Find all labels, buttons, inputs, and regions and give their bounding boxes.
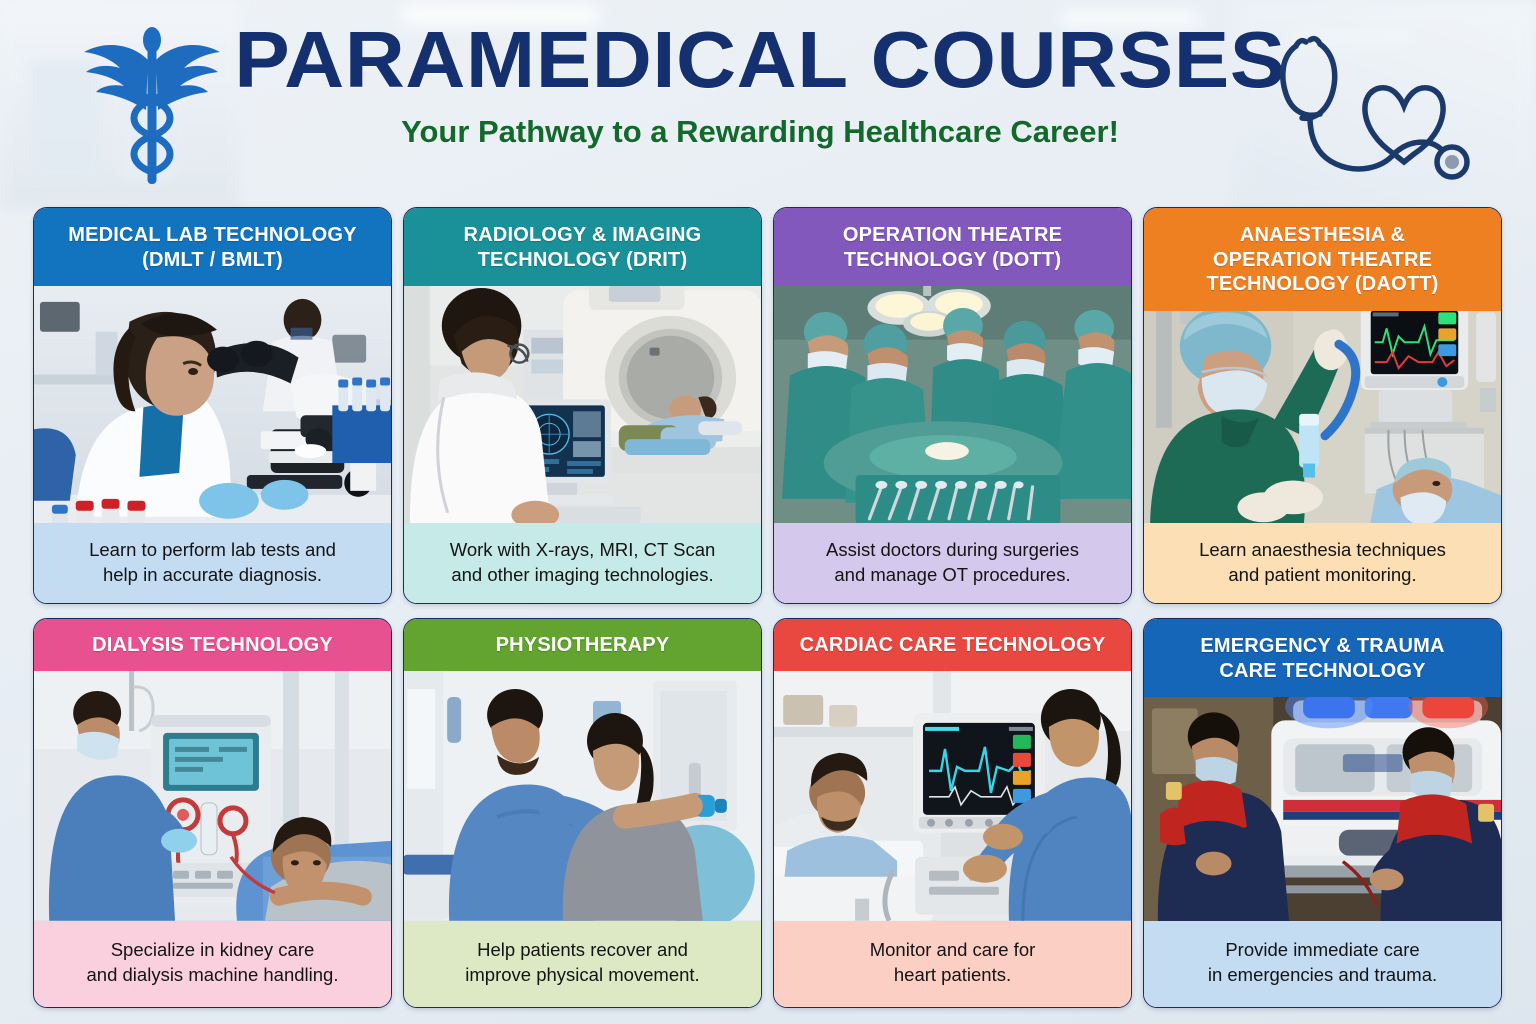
course-card-medical-lab-technology[interactable]: MEDICAL LAB TECHNOLOGY (DMLT / BMLT) <box>33 207 392 604</box>
card-header-dialysis-technology: DIALYSIS TECHNOLOGY <box>34 619 391 671</box>
page-title: PARAMEDICAL COURSES <box>230 20 1291 100</box>
caption-line1: Work with X-rays, MRI, CT Scan <box>450 539 716 560</box>
caption-line1: Provide immediate care <box>1225 939 1419 960</box>
card-image-radiology-imaging-technology <box>404 286 761 523</box>
card-title-line1: ANAESTHESIA & <box>1240 224 1405 246</box>
card-title-line2: OPERATION THEATRE <box>1213 249 1432 271</box>
caption-line2: in emergencies and trauma. <box>1208 964 1437 985</box>
poster-header: PARAMEDICAL COURSES Your Pathway to a Re… <box>0 0 1536 200</box>
card-image-physiotherapy <box>404 671 761 921</box>
course-card-grid: MEDICAL LAB TECHNOLOGY (DMLT / BMLT) <box>33 207 1503 1007</box>
card-image-operation-theatre-technology <box>774 286 1131 523</box>
caption-line2: and dialysis machine handling. <box>87 964 339 985</box>
caption-line1: Learn to perform lab tests and <box>89 539 336 560</box>
caption-line2: and other imaging technologies. <box>451 564 713 585</box>
card-title-line1: MEDICAL LAB TECHNOLOGY <box>68 224 356 246</box>
card-header-radiology-imaging-technology: RADIOLOGY & IMAGING TECHNOLOGY (DRIT) <box>404 208 761 286</box>
card-caption-operation-theatre-technology: Assist doctors during surgeries and mana… <box>774 523 1131 603</box>
course-card-physiotherapy[interactable]: PHYSIOTHERAPY <box>403 618 762 1008</box>
page-subtitle: Your Pathway to a Rewarding Healthcare C… <box>250 114 1270 150</box>
card-header-anaesthesia-operation-theatre-technology: ANAESTHESIA & OPERATION THEATRE TECHNOLO… <box>1144 208 1501 311</box>
course-card-anaesthesia-operation-theatre-technology[interactable]: ANAESTHESIA & OPERATION THEATRE TECHNOLO… <box>1143 207 1502 604</box>
card-caption-radiology-imaging-technology: Work with X-rays, MRI, CT Scan and other… <box>404 523 761 603</box>
stethoscope-heart-icon <box>1262 22 1502 192</box>
caption-line1: Learn anaesthesia techniques <box>1199 539 1446 560</box>
card-title-line1: RADIOLOGY & IMAGING <box>464 224 702 246</box>
caption-line2: improve physical movement. <box>465 964 699 985</box>
card-title-line2: (DMLT / BMLT) <box>142 249 283 271</box>
card-image-emergency-trauma-care-technology <box>1144 697 1501 921</box>
course-card-radiology-imaging-technology[interactable]: RADIOLOGY & IMAGING TECHNOLOGY (DRIT) <box>403 207 762 604</box>
card-header-physiotherapy: PHYSIOTHERAPY <box>404 619 761 671</box>
course-card-emergency-trauma-care-technology[interactable]: EMERGENCY & TRAUMA CARE TECHNOLOGY <box>1143 618 1502 1008</box>
caption-line2: heart patients. <box>894 964 1011 985</box>
card-title-line2: CARE TECHNOLOGY <box>1219 660 1425 682</box>
card-caption-emergency-trauma-care-technology: Provide immediate care in emergencies an… <box>1144 921 1501 1007</box>
caption-line1: Help patients recover and <box>477 939 688 960</box>
card-image-anaesthesia-operation-theatre-technology <box>1144 311 1501 523</box>
course-card-operation-theatre-technology[interactable]: OPERATION THEATRE TECHNOLOGY (DOTT) <box>773 207 1132 604</box>
card-title-line2: TECHNOLOGY (DRIT) <box>478 249 688 271</box>
course-card-dialysis-technology[interactable]: DIALYSIS TECHNOLOGY <box>33 618 392 1008</box>
card-title-line1: OPERATION THEATRE <box>843 224 1062 246</box>
card-caption-physiotherapy: Help patients recover and improve physic… <box>404 921 761 1007</box>
card-caption-medical-lab-technology: Learn to perform lab tests and help in a… <box>34 523 391 603</box>
card-title-line1: PHYSIOTHERAPY <box>496 633 670 657</box>
card-image-dialysis-technology <box>34 671 391 921</box>
caption-line2: and manage OT procedures. <box>834 564 1070 585</box>
caption-line1: Monitor and care for <box>870 939 1036 960</box>
caduceus-icon <box>62 18 242 193</box>
caption-line1: Assist doctors during surgeries <box>826 539 1079 560</box>
card-image-cardiac-care-technology <box>774 671 1131 921</box>
card-header-operation-theatre-technology: OPERATION THEATRE TECHNOLOGY (DOTT) <box>774 208 1131 286</box>
card-caption-anaesthesia-operation-theatre-technology: Learn anaesthesia techniques and patient… <box>1144 523 1501 603</box>
card-title-line1: DIALYSIS TECHNOLOGY <box>92 633 333 657</box>
course-card-cardiac-care-technology[interactable]: CARDIAC CARE TECHNOLOGY <box>773 618 1132 1008</box>
caption-line2: and patient monitoring. <box>1228 564 1416 585</box>
card-image-medical-lab-technology <box>34 286 391 523</box>
card-title-line1: EMERGENCY & TRAUMA <box>1200 635 1444 657</box>
card-caption-dialysis-technology: Specialize in kidney care and dialysis m… <box>34 921 391 1007</box>
card-header-emergency-trauma-care-technology: EMERGENCY & TRAUMA CARE TECHNOLOGY <box>1144 619 1501 697</box>
card-title-line1: CARDIAC CARE TECHNOLOGY <box>800 633 1106 657</box>
caption-line1: Specialize in kidney care <box>111 939 315 960</box>
card-header-medical-lab-technology: MEDICAL LAB TECHNOLOGY (DMLT / BMLT) <box>34 208 391 286</box>
caption-line2: help in accurate diagnosis. <box>103 564 322 585</box>
card-title-line2: TECHNOLOGY (DOTT) <box>844 249 1061 271</box>
card-header-cardiac-care-technology: CARDIAC CARE TECHNOLOGY <box>774 619 1131 671</box>
card-caption-cardiac-care-technology: Monitor and care for heart patients. <box>774 921 1131 1007</box>
card-title-line3: TECHNOLOGY (DAOTT) <box>1206 273 1438 295</box>
